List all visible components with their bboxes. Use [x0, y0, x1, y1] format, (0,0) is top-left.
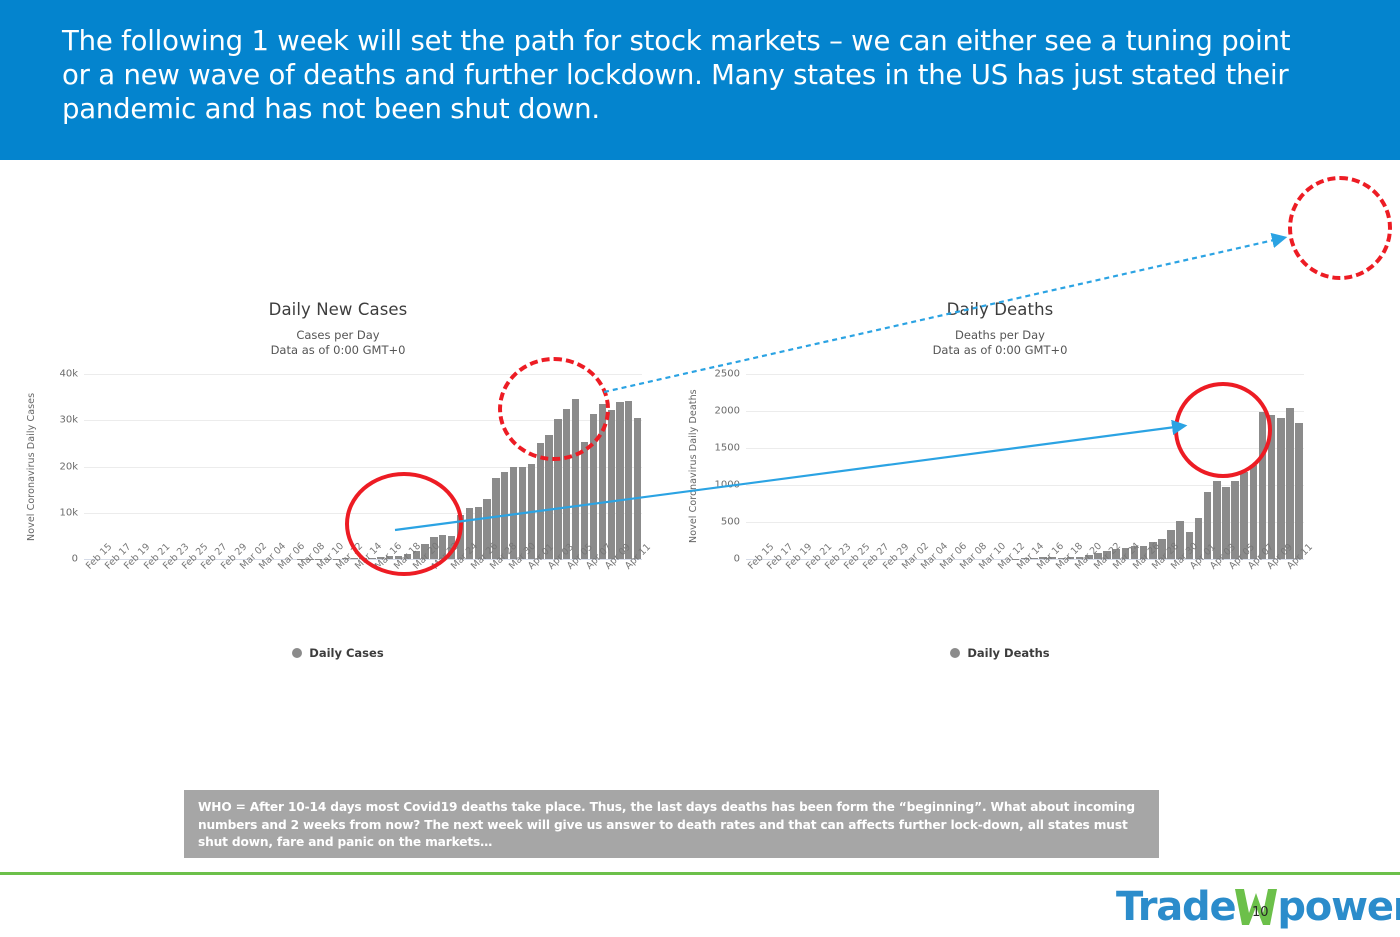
x-tick-label: Mar 12 — [334, 560, 353, 604]
y-tick-label: 2000 — [715, 406, 740, 417]
x-tick-label: Mar 04 — [257, 560, 276, 604]
y-tick-label: 40k — [59, 369, 78, 380]
x-tick-label: Mar 30 — [507, 560, 526, 604]
y-tick-label: 1000 — [715, 480, 740, 491]
x-tick-label: Apr 01 — [1188, 560, 1207, 604]
x-tick-label: Apr 07 — [1246, 560, 1265, 604]
x-axis-labels-deaths: Feb 15Feb 17Feb 19Feb 21Feb 23Feb 25Feb … — [746, 560, 1304, 604]
x-tick-label: Feb 17 — [765, 560, 784, 604]
bar — [616, 402, 623, 559]
bar — [1295, 423, 1303, 559]
x-tick-label: Mar 08 — [296, 560, 315, 604]
brand-logo-text-power: power — [1277, 884, 1400, 930]
x-tick-label: Apr 05 — [1227, 560, 1246, 604]
x-tick-label: Mar 12 — [996, 560, 1015, 604]
x-tick-label: Mar 02 — [238, 560, 257, 604]
x-tick-label: Mar 08 — [958, 560, 977, 604]
chart-daily-deaths: Daily Deaths Deaths per Day Data as of 0… — [690, 300, 1310, 660]
chart-subtitle-cases-line1: Cases per Day — [28, 328, 648, 343]
x-tick-label: Mar 28 — [488, 560, 507, 604]
x-tick-label: Mar 26 — [469, 560, 488, 604]
x-tick-label: Mar 02 — [900, 560, 919, 604]
x-tick-label: Feb 27 — [861, 560, 880, 604]
x-tick-label: Apr 03 — [546, 560, 565, 604]
x-tick-label: Feb 23 — [823, 560, 842, 604]
x-tick-label: Feb 17 — [103, 560, 122, 604]
x-tick-label: Apr 09 — [1265, 560, 1284, 604]
y-tick-label: 0 — [72, 554, 78, 565]
x-tick-label: Mar 04 — [919, 560, 938, 604]
x-tick-label: Mar 18 — [1054, 560, 1073, 604]
x-tick-label: Feb 23 — [161, 560, 180, 604]
y-tick-label: 20k — [59, 461, 78, 472]
x-tick-label: Feb 27 — [199, 560, 218, 604]
chart-title-deaths: Daily Deaths — [690, 300, 1310, 319]
who-note-text: WHO = After 10-14 days most Covid19 deat… — [198, 799, 1145, 852]
x-tick-label: Mar 26 — [1131, 560, 1150, 604]
x-tick-label: Apr 11 — [623, 560, 642, 604]
y-axis-ticks-deaths: 05001000150020002500 — [704, 374, 744, 559]
brand-logo-text-trade: Trade — [1116, 884, 1235, 930]
annotation-circle-future-zone — [1288, 176, 1392, 280]
bar — [625, 401, 632, 559]
x-tick-label: Mar 20 — [1073, 560, 1092, 604]
chart-subtitle-cases: Cases per Day Data as of 0:00 GMT+0 — [28, 328, 648, 358]
chart-subtitle-deaths-line2: Data as of 0:00 GMT+0 — [690, 343, 1310, 358]
y-tick-label: 0 — [734, 554, 740, 565]
x-tick-label: Mar 06 — [938, 560, 957, 604]
bar — [634, 418, 641, 559]
y-tick-label: 30k — [59, 415, 78, 426]
x-tick-label: Mar 24 — [449, 560, 468, 604]
x-tick-label: Mar 10 — [315, 560, 334, 604]
header-banner: The following 1 week will set the path f… — [0, 0, 1400, 160]
y-tick-label: 2500 — [715, 369, 740, 380]
y-tick-label: 10k — [59, 507, 78, 518]
page-title: The following 1 week will set the path f… — [62, 24, 1312, 126]
annotation-circle-early-cases — [345, 472, 463, 576]
x-tick-label: Apr 07 — [584, 560, 603, 604]
x-tick-label: Apr 11 — [1285, 560, 1304, 604]
x-tick-label: Feb 29 — [881, 560, 900, 604]
x-tick-label: Feb 21 — [804, 560, 823, 604]
y-axis-title-cases: Novel Coronavirus Daily Cases — [26, 374, 42, 559]
x-tick-label: Mar 06 — [276, 560, 295, 604]
x-tick-label: Apr 09 — [603, 560, 622, 604]
x-tick-label: Mar 22 — [1092, 560, 1111, 604]
who-note-box: WHO = After 10-14 days most Covid19 deat… — [184, 790, 1159, 858]
x-tick-label: Mar 10 — [977, 560, 996, 604]
chart-subtitle-deaths-line1: Deaths per Day — [690, 328, 1310, 343]
chart-title-cases: Daily New Cases — [28, 300, 648, 319]
x-tick-label: Apr 03 — [1208, 560, 1227, 604]
x-axis-labels-cases: Feb 15Feb 17Feb 19Feb 21Feb 23Feb 25Feb … — [84, 560, 642, 604]
annotation-circle-recent-deaths — [1174, 382, 1272, 478]
x-tick-label: Feb 15 — [84, 560, 103, 604]
x-tick-label: Apr 01 — [526, 560, 545, 604]
bar — [537, 443, 544, 559]
chart-daily-new-cases: Daily New Cases Cases per Day Data as of… — [28, 300, 648, 660]
legend-dot-icon — [950, 648, 960, 658]
legend-deaths: Daily Deaths — [690, 646, 1310, 660]
y-tick-label: 500 — [721, 517, 740, 528]
bar — [608, 410, 615, 559]
y-axis-title-deaths: Novel Coronavirus Daily Deaths — [688, 374, 704, 559]
slide-body: Daily New Cases Cases per Day Data as of… — [0, 160, 1400, 788]
x-tick-label: Feb 29 — [219, 560, 238, 604]
legend-label-cases: Daily Cases — [309, 646, 383, 660]
x-tick-label: Mar 24 — [1111, 560, 1130, 604]
bar — [1277, 418, 1285, 559]
x-tick-label: Feb 25 — [180, 560, 199, 604]
chart-subtitle-deaths: Deaths per Day Data as of 0:00 GMT+0 — [690, 328, 1310, 358]
page-number: 10 — [1252, 905, 1269, 920]
legend-dot-icon — [292, 648, 302, 658]
x-tick-label: Mar 14 — [1015, 560, 1034, 604]
x-tick-label: Feb 21 — [142, 560, 161, 604]
bar — [1286, 408, 1294, 559]
x-tick-label: Feb 19 — [122, 560, 141, 604]
x-tick-label: Mar 16 — [1035, 560, 1054, 604]
x-tick-label: Mar 30 — [1169, 560, 1188, 604]
y-axis-ticks-cases: 010k20k30k40k — [42, 374, 82, 559]
x-tick-label: Feb 15 — [746, 560, 765, 604]
x-tick-label: Mar 28 — [1150, 560, 1169, 604]
x-tick-label: Feb 25 — [842, 560, 861, 604]
footer-divider — [0, 872, 1400, 875]
legend-label-deaths: Daily Deaths — [967, 646, 1049, 660]
x-tick-label: Apr 05 — [565, 560, 584, 604]
legend-cases: Daily Cases — [28, 646, 648, 660]
chart-subtitle-cases-line2: Data as of 0:00 GMT+0 — [28, 343, 648, 358]
annotation-circle-recent-cases — [498, 357, 610, 461]
x-tick-label: Feb 19 — [784, 560, 803, 604]
y-tick-label: 1500 — [715, 443, 740, 454]
